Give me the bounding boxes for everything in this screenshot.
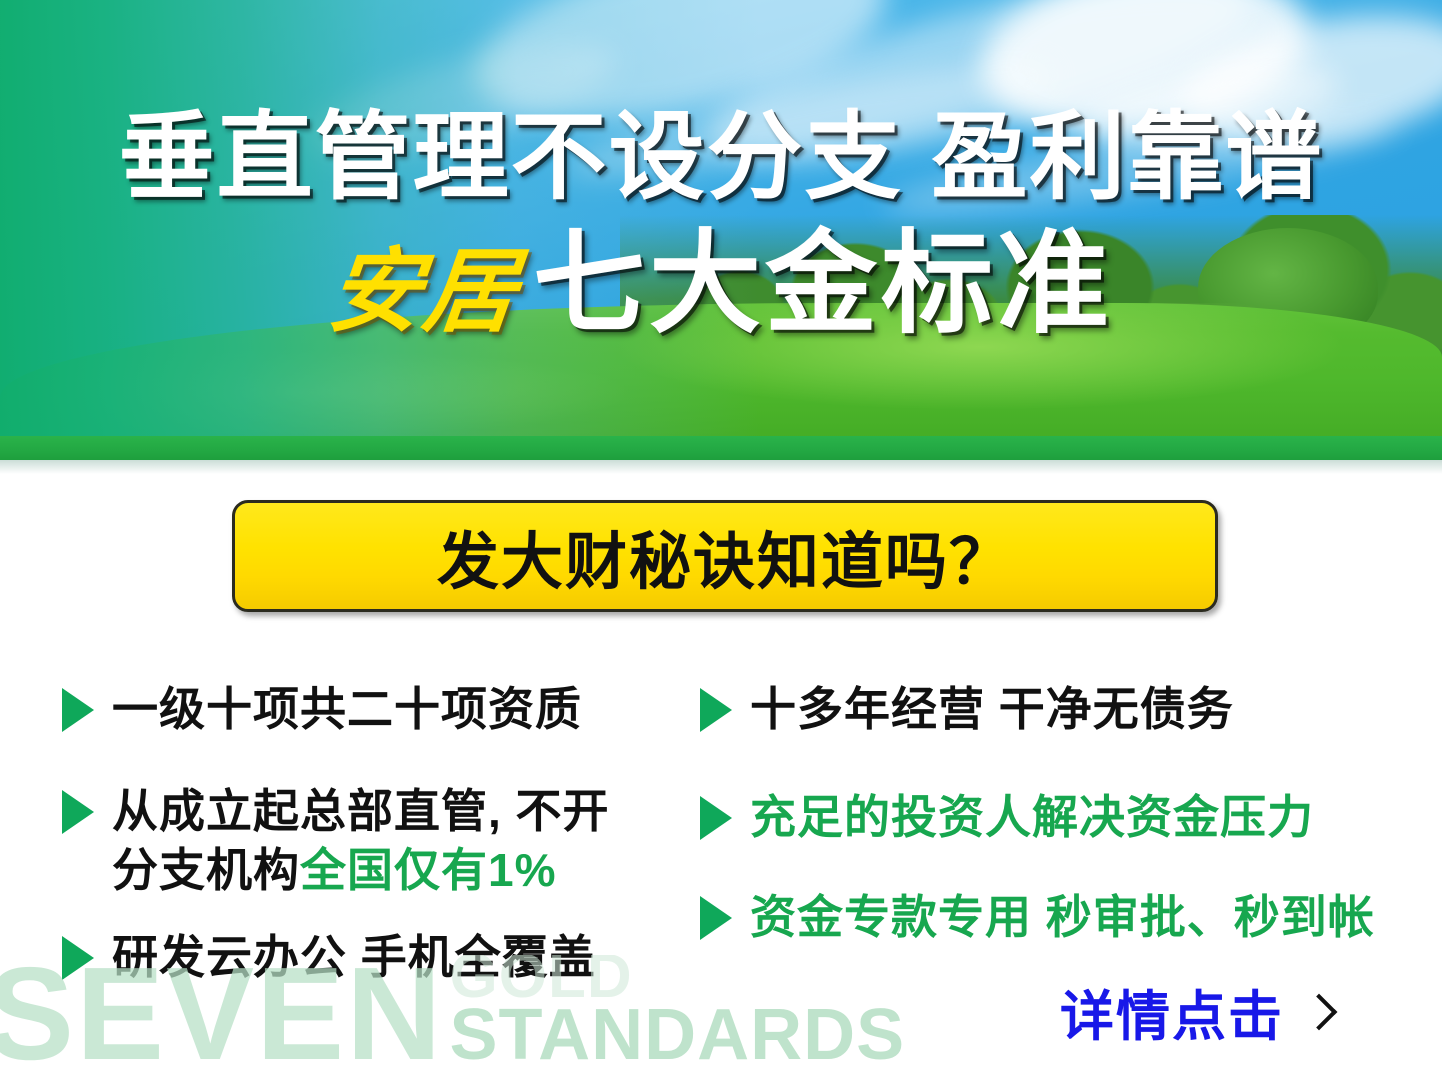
details-cta-link[interactable]: 详情点击 [1060, 972, 1332, 1051]
chevron-right-icon [1301, 993, 1338, 1030]
list-item: 一级十项共二十项资质 [62, 680, 582, 739]
bullet-text: 研发云办公 手机全覆盖 [112, 928, 596, 987]
bullet-text: 十多年经营 干净无债务 [750, 680, 1234, 739]
hero-drop-shadow [0, 460, 1442, 474]
watermark-standards: STANDARDS [450, 1003, 906, 1068]
triangle-bullet-icon [62, 790, 94, 834]
triangle-bullet-icon [62, 936, 94, 980]
headline-callout-banner[interactable]: 发大财秘诀知道吗？ [232, 500, 1218, 612]
list-item: 从成立起总部直管, 不开 分支机构全国仅有1% [62, 782, 610, 900]
list-item: 研发云办公 手机全覆盖 [62, 928, 596, 987]
list-item: 充足的投资人解决资金压力 [700, 788, 1314, 847]
bullet-text: 一级十项共二十项资质 [112, 680, 582, 739]
list-item: 十多年经营 干净无债务 [700, 680, 1234, 739]
headline-seven-gold-standards: 七大金标准 [533, 228, 1113, 340]
bullet-text-line1: 从成立起总部直管, 不开 [112, 785, 610, 837]
triangle-bullet-icon [700, 896, 732, 940]
triangle-bullet-icon [700, 688, 732, 732]
triangle-bullet-icon [62, 688, 94, 732]
bullet-text: 充足的投资人解决资金压力 [750, 788, 1314, 847]
triangle-bullet-icon [700, 796, 732, 840]
bullet-text-line2-black: 分支机构 [112, 844, 300, 896]
headline-brand-anju: 安居 [324, 246, 524, 338]
bullet-text-line2-highlight: 全国仅有1% [300, 844, 556, 896]
feature-bullets-section: 一级十项共二十项资质 从成立起总部直管, 不开 分支机构全国仅有1% 研发云办公… [0, 660, 1442, 990]
hero-banner: 垂直管理不设分支 盈利靠谱 安居 七大金标准 [0, 0, 1442, 460]
bullet-text-multiline: 从成立起总部直管, 不开 分支机构全国仅有1% [112, 782, 610, 900]
bullet-text: 资金专款专用 秒审批、秒到帐 [750, 888, 1375, 947]
cta-label: 详情点击 [1060, 972, 1284, 1051]
list-item: 资金专款专用 秒审批、秒到帐 [700, 888, 1375, 947]
callout-banner-text: 发大财秘诀知道吗？ [437, 511, 1013, 601]
hero-headline-group: 垂直管理不设分支 盈利靠谱 安居 七大金标准 [0, 0, 1442, 460]
headline-line-2: 安居 七大金标准 [329, 228, 1113, 340]
headline-line-1: 垂直管理不设分支 盈利靠谱 [119, 110, 1324, 206]
